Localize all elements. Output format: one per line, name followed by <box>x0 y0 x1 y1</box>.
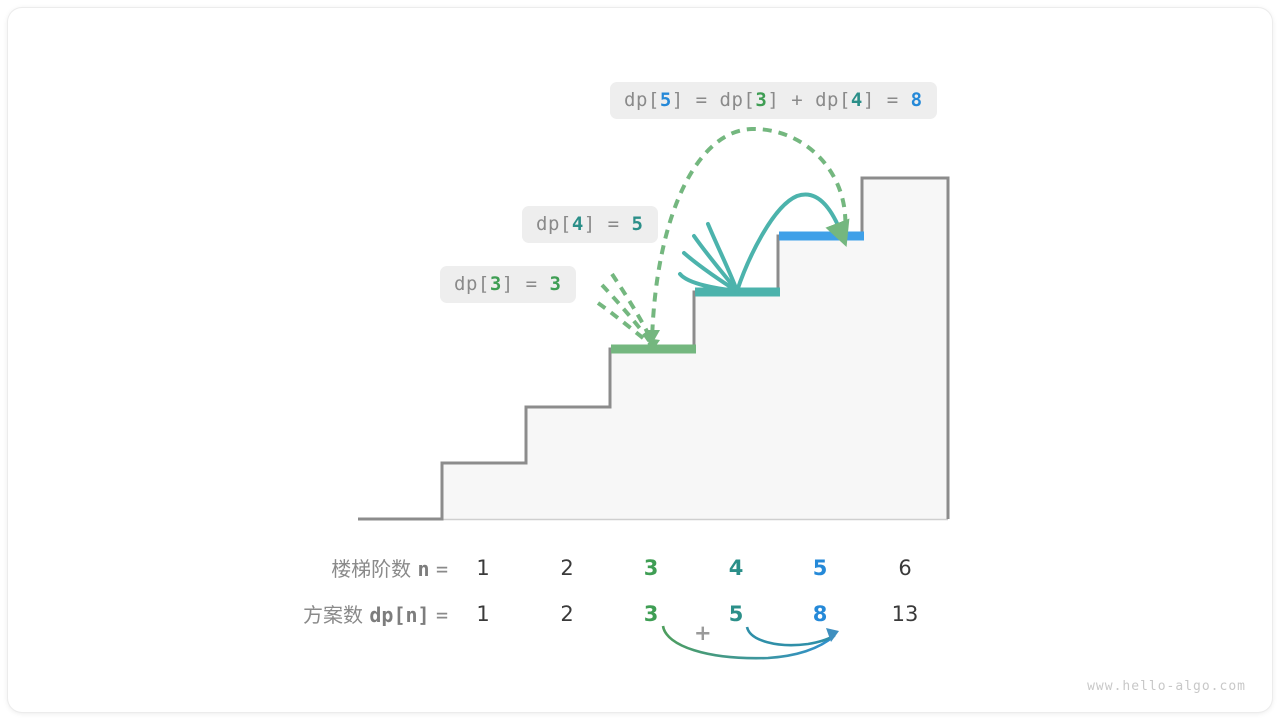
row1-cell-3: 3 <box>621 556 681 580</box>
row2-label-eq: = <box>436 603 448 627</box>
row1-cell-1: 1 <box>453 556 513 580</box>
row1-cell-2: 2 <box>537 556 597 580</box>
green-dashed-arc-group <box>598 274 653 345</box>
row2-cell-2: 2 <box>537 602 597 626</box>
dp5-mid3: ] = <box>863 89 911 111</box>
dp5-result: 8 <box>911 89 923 111</box>
dp3-index: 3 <box>490 273 502 295</box>
green-arc-3 <box>612 274 653 345</box>
row1-label-cn: 楼梯阶数 <box>331 557 411 581</box>
diagram-stage: dp[5] = dp[3] + dp[4] = 8 dp[4] = 5 dp[3… <box>8 8 1272 712</box>
row1-cell-6: 6 <box>875 556 935 580</box>
row2-cell-3: 3 <box>621 602 681 626</box>
row2-label-cn: 方案数 <box>303 603 363 627</box>
dp5-callout: dp[5] = dp[3] + dp[4] = 8 <box>610 82 937 119</box>
figure-card: dp[5] = dp[3] + dp[4] = 8 dp[4] = 5 dp[3… <box>8 8 1272 712</box>
row1-cell-4: 4 <box>706 556 766 580</box>
dp3-mid1: ] = <box>502 273 550 295</box>
row-label-steps: 楼梯阶数 n = <box>198 553 448 582</box>
dp5-mid1: ] = dp[ <box>672 89 756 111</box>
dp4-result: 5 <box>632 213 644 235</box>
dp3-callout: dp[3] = 3 <box>440 266 576 303</box>
row2-cell-4: 5 <box>706 602 766 626</box>
row1-label-eq: = <box>436 557 448 581</box>
row2-label-var: dp[n] <box>369 603 429 627</box>
row1-cell-5: 5 <box>790 556 850 580</box>
dp4-callout: dp[4] = 5 <box>522 206 658 243</box>
dp5-index3: 4 <box>851 89 863 111</box>
row2-cell-5: 8 <box>790 602 850 626</box>
row2-cell-1: 1 <box>453 602 513 626</box>
dp4-index: 4 <box>572 213 584 235</box>
row2-cell-6: 13 <box>875 602 935 626</box>
dp5-prefix: dp[ <box>624 89 660 111</box>
bottom-arc-from-5 <box>747 627 835 645</box>
watermark: www.hello-algo.com <box>1087 679 1246 694</box>
plus-operator: + <box>694 621 712 645</box>
dp5-index2: 3 <box>755 89 767 111</box>
dp5-mid2: ] + dp[ <box>767 89 851 111</box>
row1-label-var: n <box>418 557 430 581</box>
dp4-prefix: dp[ <box>536 213 572 235</box>
dp5-index: 5 <box>660 89 672 111</box>
row-label-ways: 方案数 dp[n] = <box>198 599 448 628</box>
dp4-mid1: ] = <box>584 213 632 235</box>
dp3-prefix: dp[ <box>454 273 490 295</box>
dp3-result: 3 <box>550 273 562 295</box>
